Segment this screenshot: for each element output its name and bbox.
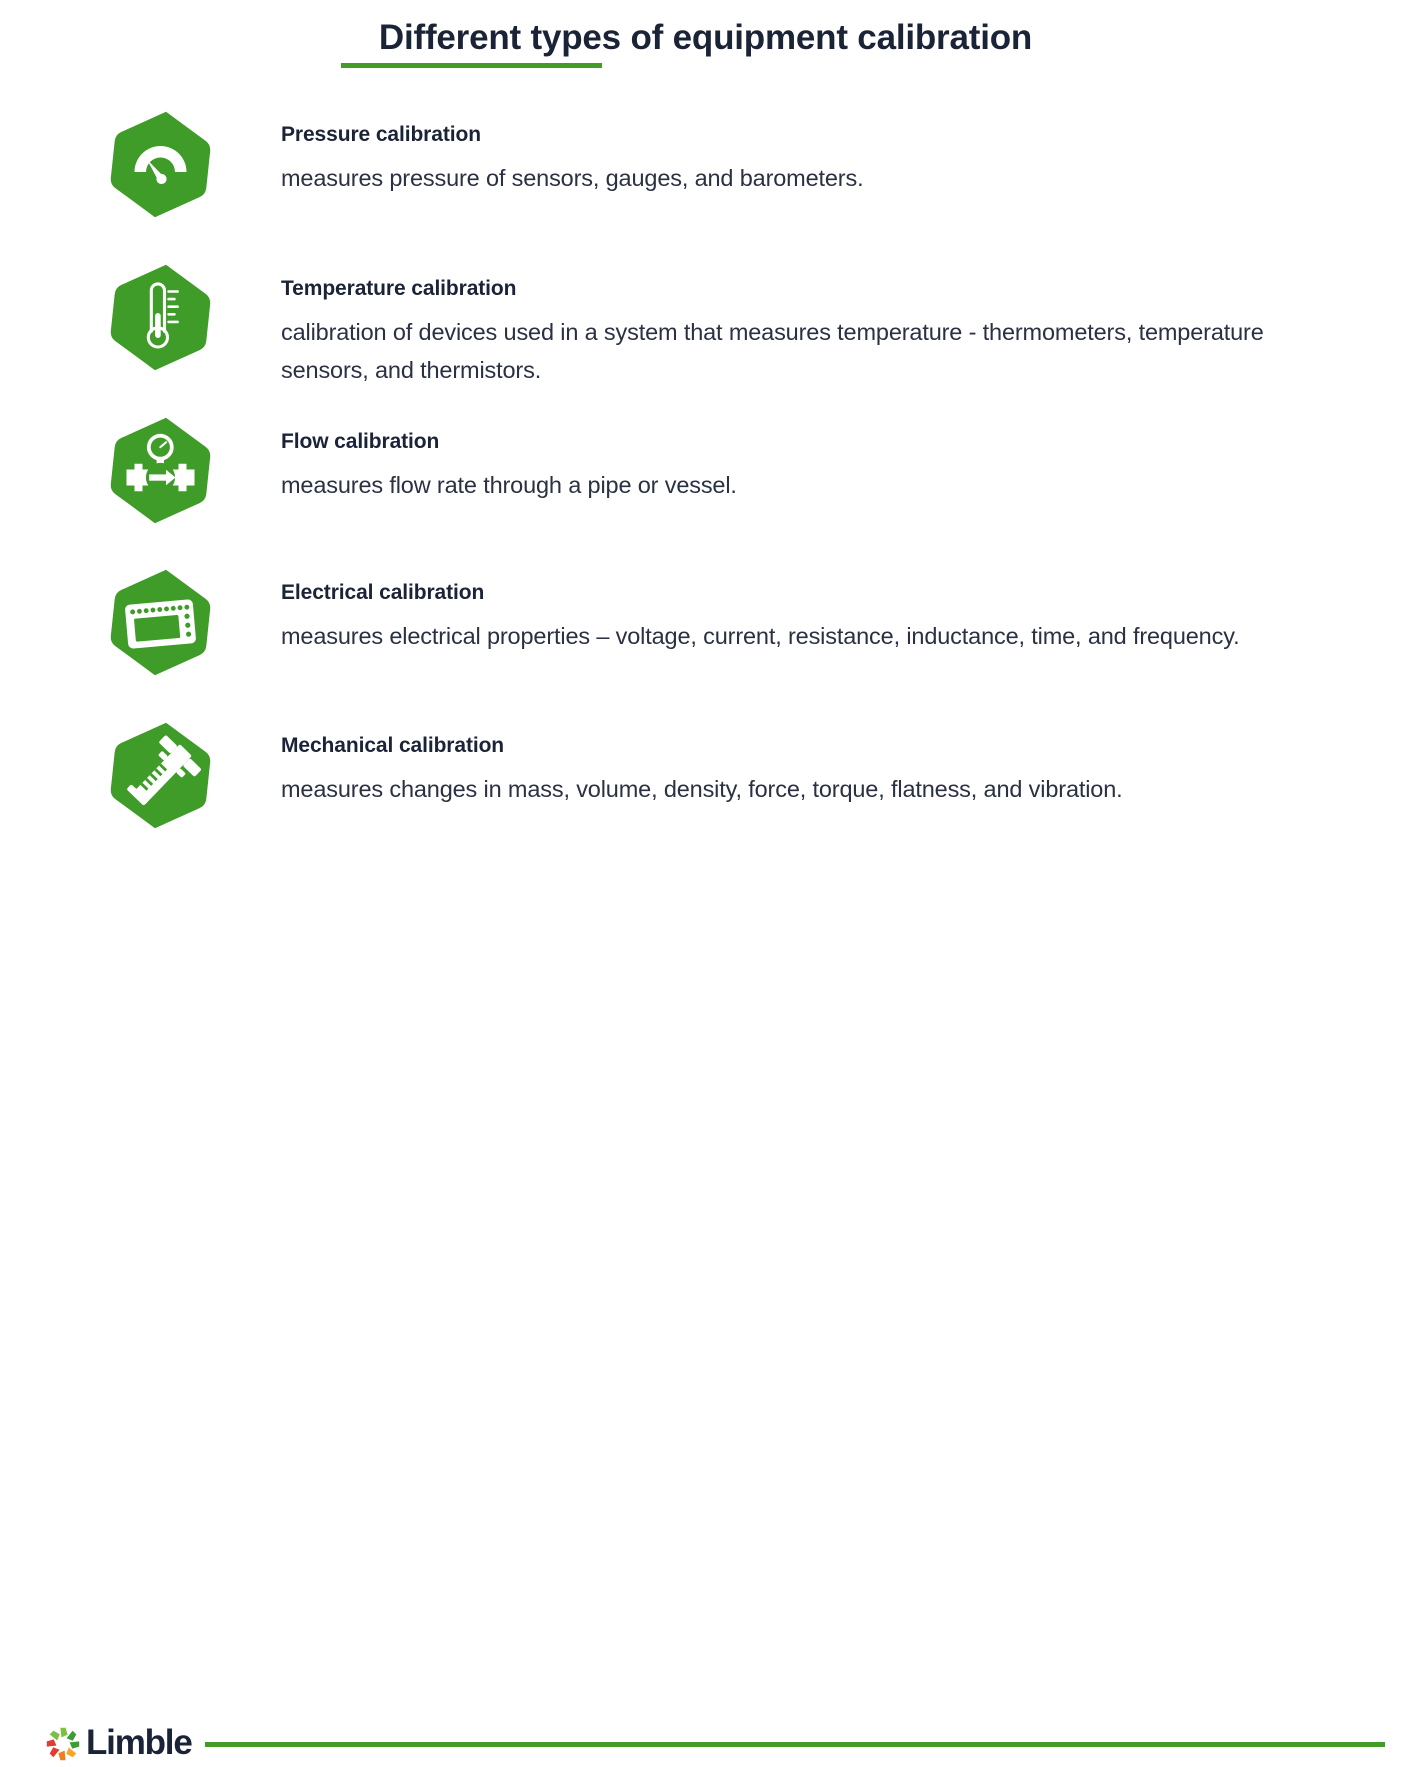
flow-meter-icon: [104, 414, 217, 527]
list-item-body: measures electrical properties – voltage…: [281, 617, 1296, 655]
list-item-body: measures changes in mass, volume, densit…: [281, 770, 1296, 808]
mechanical-badge: [104, 719, 217, 832]
pressure-text: Pressure calibration measures pressure o…: [281, 122, 1341, 197]
pressure-gauge-icon: [104, 108, 217, 221]
list-item-body: measures flow rate through a pipe or ves…: [281, 466, 1296, 504]
electrical-meter-icon: [104, 566, 217, 679]
footer: Limble: [0, 858, 1411, 918]
electrical-badge: [104, 566, 217, 679]
list-item-body: calibration of devices used in a system …: [281, 313, 1296, 389]
list-item-heading: Mechanical calibration: [281, 733, 1341, 758]
pressure-badge: [104, 108, 217, 221]
caliper-icon: [104, 719, 217, 832]
electrical-text: Electrical calibration measures electric…: [281, 580, 1341, 655]
list-item-heading: Flow calibration: [281, 429, 1341, 454]
limble-pinwheel-logo: [45, 1726, 81, 1762]
temperature-badge: [104, 261, 217, 374]
footer-accent-rule: [205, 1742, 1385, 1747]
brand-name: Limble: [86, 1724, 192, 1762]
temperature-text: Temperature calibration calibration of d…: [281, 276, 1341, 389]
flow-text: Flow calibration measures flow rate thro…: [281, 429, 1341, 504]
list-item-heading: Electrical calibration: [281, 580, 1341, 605]
list-item-heading: Pressure calibration: [281, 122, 1341, 147]
calibration-type-list: Pressure calibration measures pressure o…: [0, 0, 1411, 924]
list-item-body: measures pressure of sensors, gauges, an…: [281, 159, 1296, 197]
mechanical-text: Mechanical calibration measures changes …: [281, 733, 1341, 808]
flow-badge: [104, 414, 217, 527]
list-item-heading: Temperature calibration: [281, 276, 1341, 301]
thermometer-icon: [104, 261, 217, 374]
